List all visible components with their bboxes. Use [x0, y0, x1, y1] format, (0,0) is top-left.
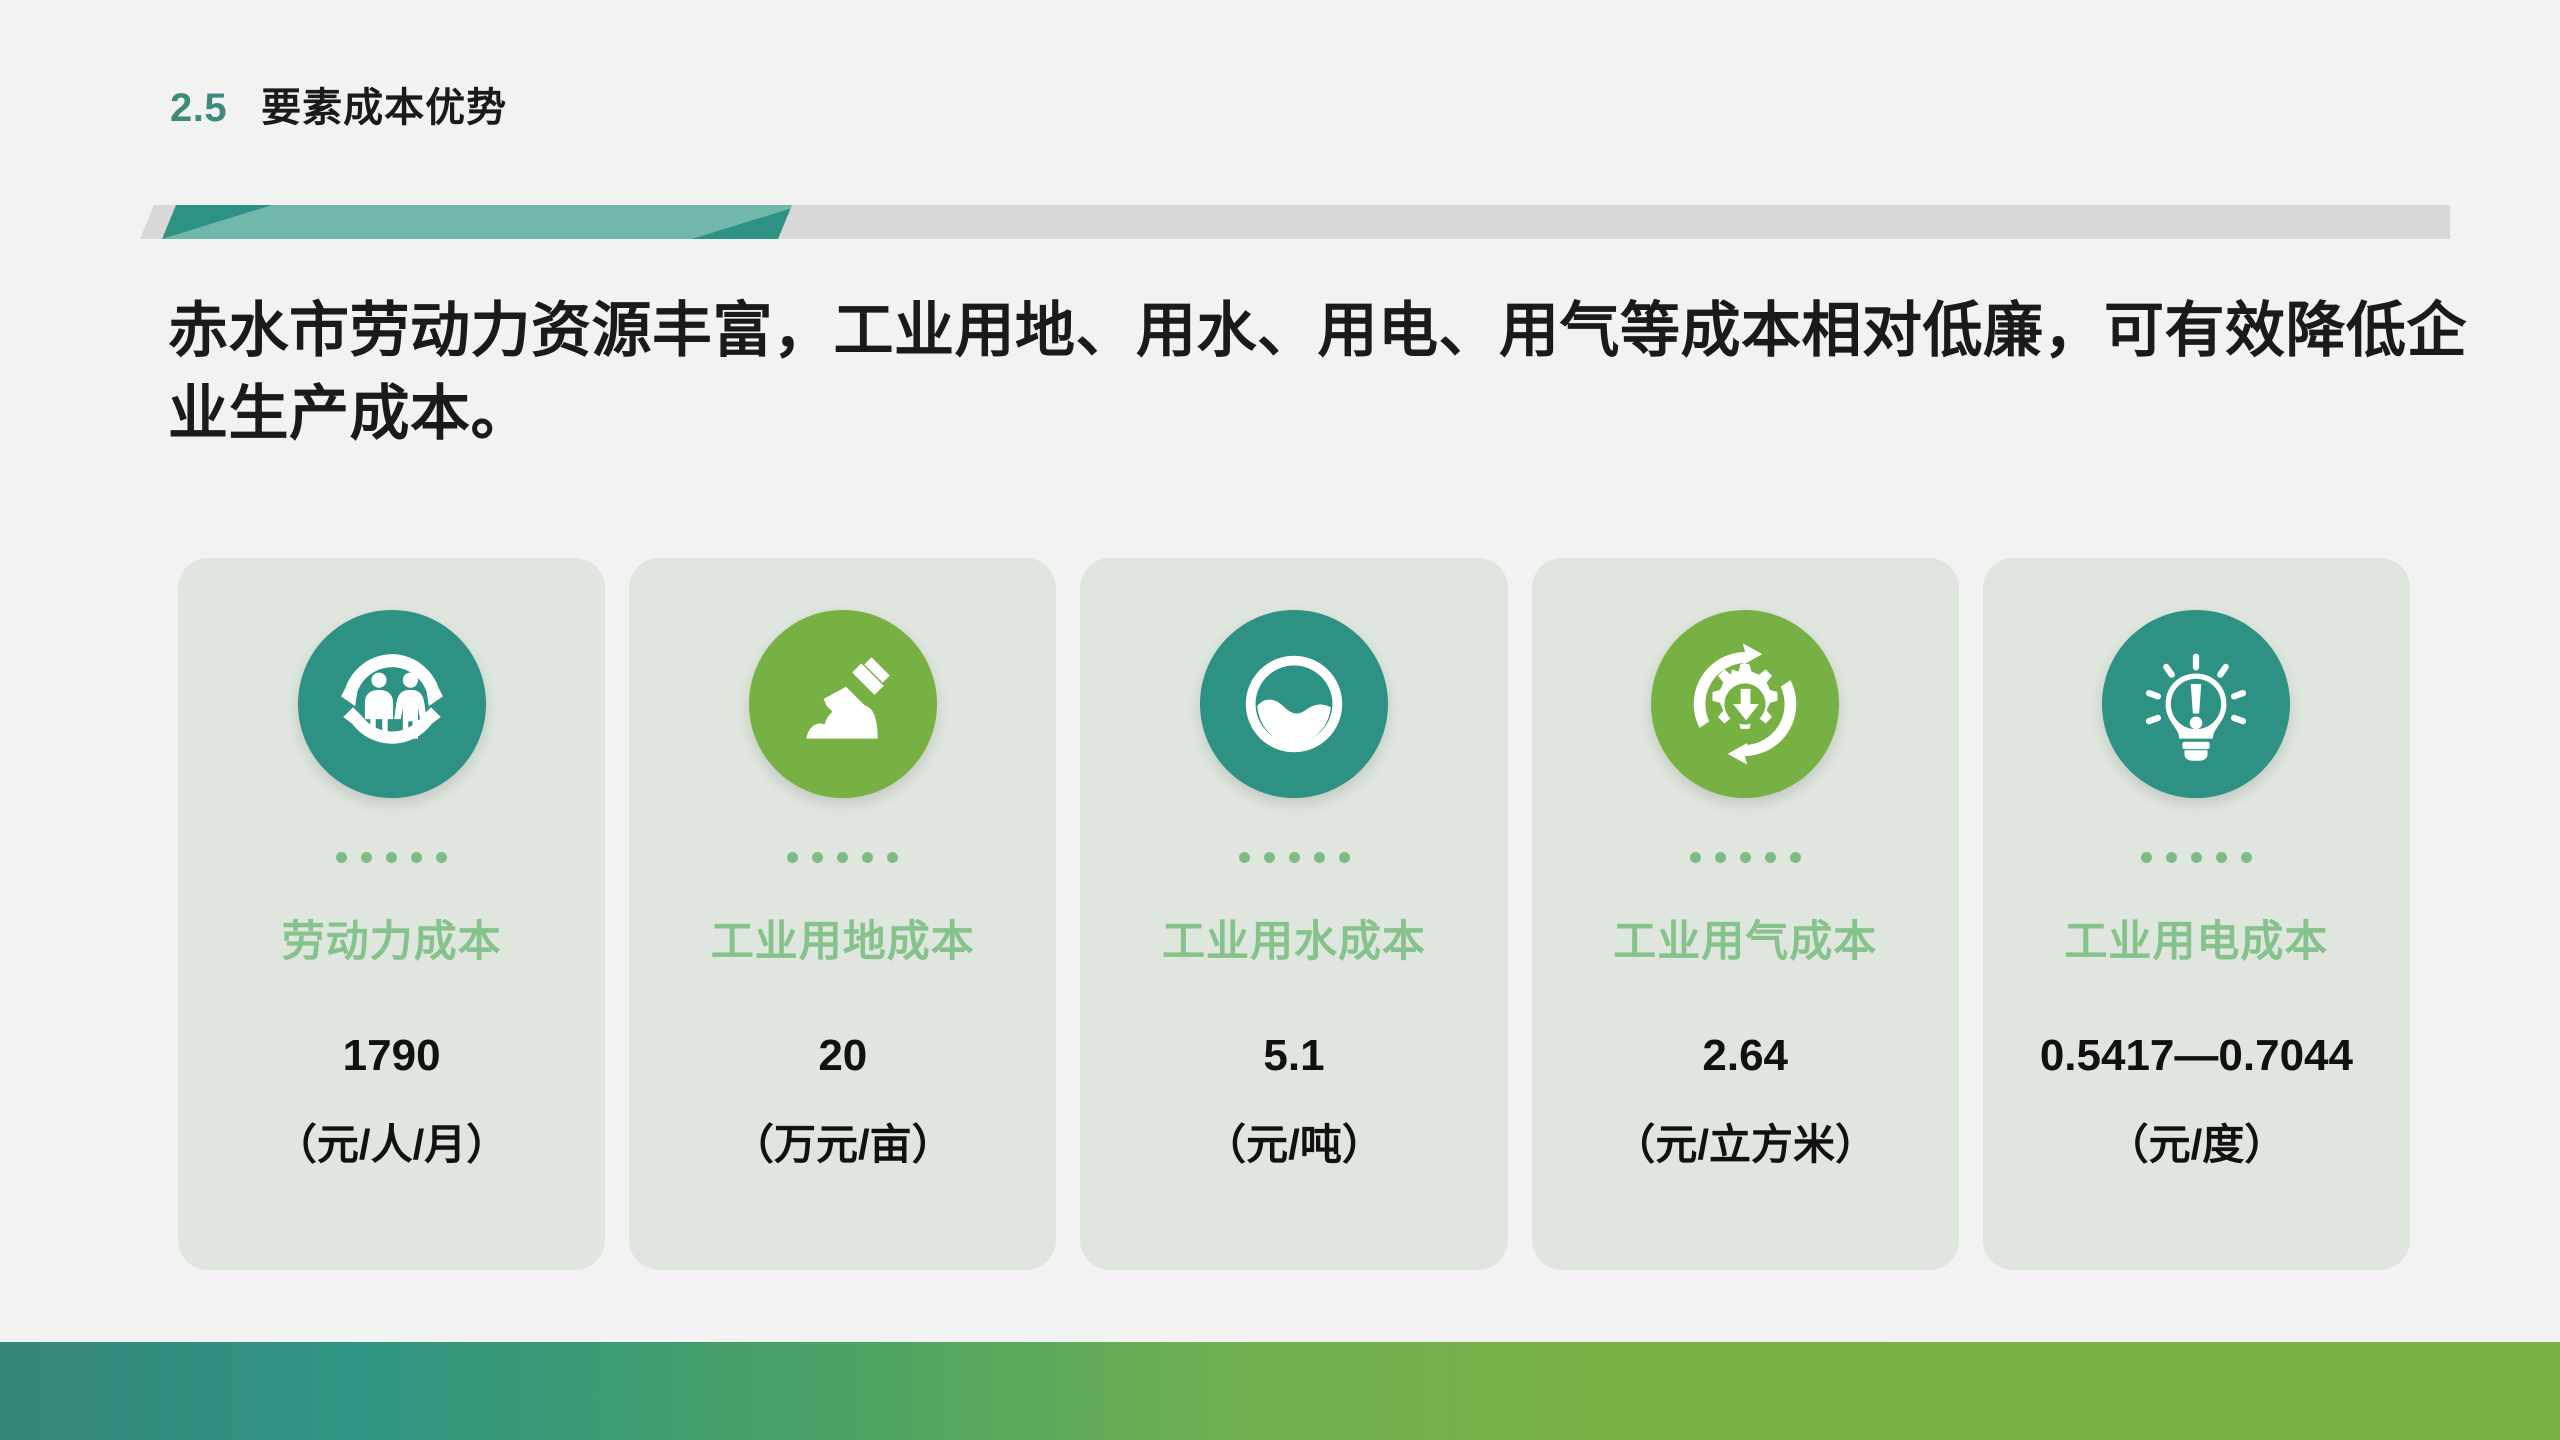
card-value: 5.1: [1263, 1031, 1324, 1081]
card-dots: [1690, 852, 1801, 863]
card-dots: [787, 852, 898, 863]
card-value: 1790: [343, 1031, 441, 1081]
water-drop-ring-icon: [1200, 610, 1388, 798]
card-dots: [2141, 852, 2252, 863]
page-title: 要素成本优势: [261, 75, 507, 133]
cost-card-list: 劳动力成本 1790 （元/人/月） 工业用地成本 20 （万元/亩）: [178, 558, 2410, 1270]
card-unit: （元/立方米）: [1613, 1111, 1877, 1172]
card-value: 20: [818, 1031, 867, 1081]
lightbulb-icon: [2102, 610, 2290, 798]
section-number: 2.5: [170, 86, 227, 131]
card-unit: （万元/亩）: [732, 1111, 954, 1172]
cost-card-gas[interactable]: 工业用气成本 2.64 （元/立方米）: [1532, 558, 1959, 1270]
lead-paragraph: 赤水市劳动力资源丰富，工业用地、用水、用电、用气等成本相对低廉，可有效降低企业生…: [168, 290, 2478, 456]
card-label: 工业用气成本: [1613, 907, 1877, 969]
people-recycle-icon: [298, 610, 486, 798]
cost-card-water[interactable]: 工业用水成本 5.1 （元/吨）: [1080, 558, 1507, 1270]
card-label: 工业用地成本: [711, 907, 975, 969]
card-value: 2.64: [1702, 1031, 1788, 1081]
card-label: 劳动力成本: [282, 907, 502, 969]
card-label: 工业用电成本: [2064, 907, 2328, 969]
cost-card-labour[interactable]: 劳动力成本 1790 （元/人/月）: [178, 558, 605, 1270]
card-unit: （元/人/月）: [275, 1111, 508, 1172]
card-label: 工业用水成本: [1162, 907, 1426, 969]
cost-card-land[interactable]: 工业用地成本 20 （万元/亩）: [629, 558, 1056, 1270]
card-dots: [1239, 852, 1350, 863]
gear-recycle-icon: [1651, 610, 1839, 798]
header-divider: [140, 205, 2450, 239]
divider-accent-light: [162, 205, 792, 239]
card-unit: （元/吨）: [1204, 1111, 1384, 1172]
cost-card-electricity[interactable]: 工业用电成本 0.5417—0.7044 （元/度）: [1983, 558, 2410, 1270]
card-value: 0.5417—0.7044: [2040, 1031, 2353, 1081]
shovel-dirt-icon: [749, 610, 937, 798]
footer-gradient-bar: [0, 1342, 2560, 1440]
slide-header: 2.5 要素成本优势: [170, 75, 507, 133]
card-unit: （元/度）: [2107, 1111, 2287, 1172]
divider-accent-band: [162, 205, 792, 239]
card-dots: [336, 852, 447, 863]
